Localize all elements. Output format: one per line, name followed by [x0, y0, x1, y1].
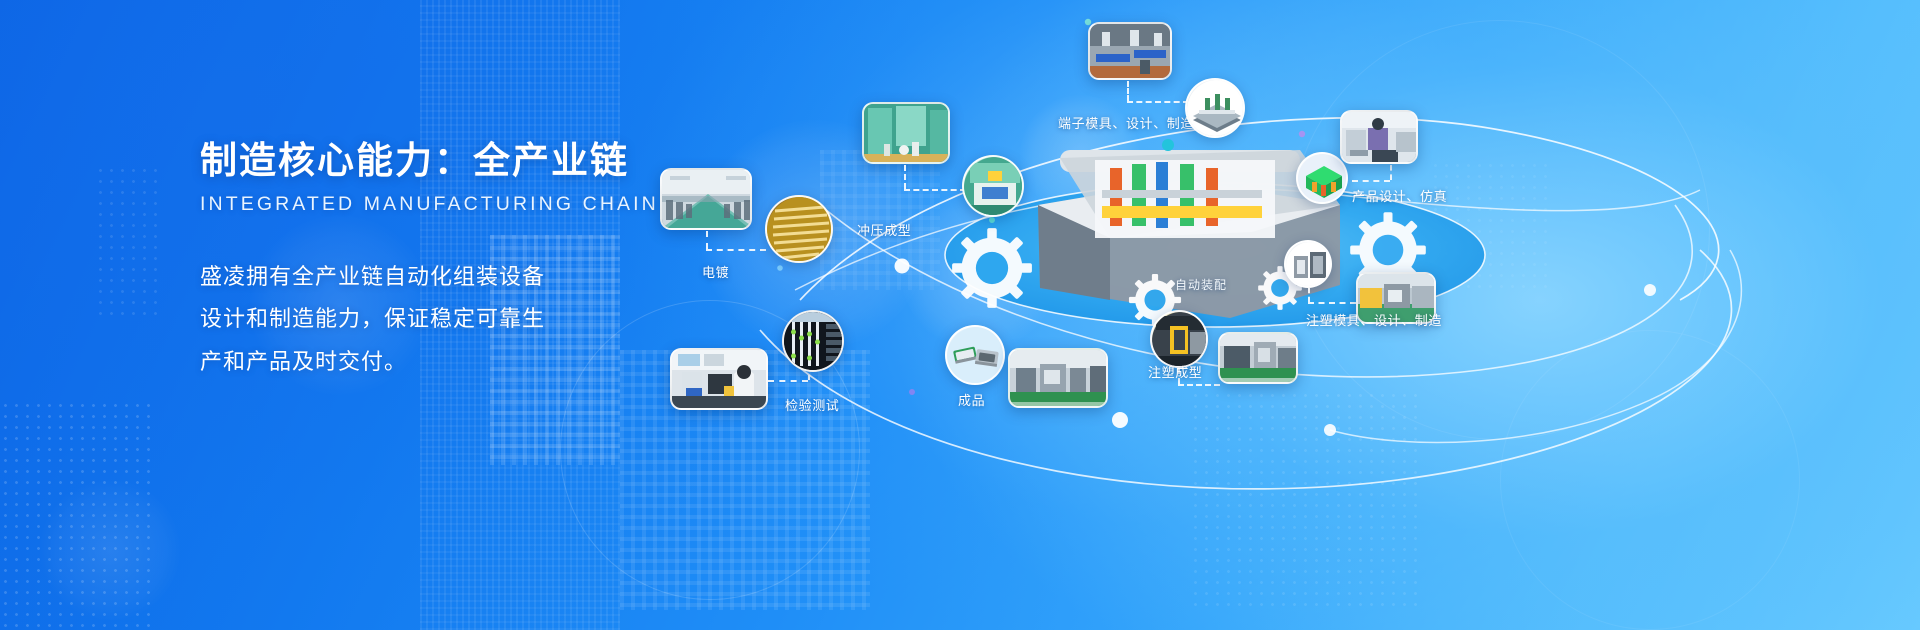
manufacturing-chain-diagram: 自动装配 电镀 [640, 0, 1920, 630]
manufacturing-banner: 制造核心能力：全产业链 INTEGRATED MANUFACTURING CHA… [0, 0, 1920, 630]
node-terminal-mold-photo[interactable] [1088, 22, 1172, 80]
particle-4 [777, 265, 783, 271]
injection-mold-connector-vertical [1308, 288, 1310, 302]
node-terminal-mold-3d-icon[interactable] [1185, 78, 1245, 138]
node-product-design-photo[interactable] [1340, 110, 1418, 164]
bg-dot-grid-left-upper [95, 165, 165, 315]
stamping-connector-vertical [904, 165, 906, 189]
product-design-connector-vertical [1390, 165, 1392, 180]
node-inspection-photo[interactable] [670, 348, 768, 410]
particle-7 [909, 389, 915, 395]
particle-2 [1299, 131, 1305, 137]
orbit-dot-1 [895, 259, 910, 274]
injection-mold-connector-line [1308, 302, 1356, 304]
orbit-dot-4 [1644, 284, 1656, 296]
node-finished-goods-label: 成品 [958, 390, 985, 409]
node-injection-mold-icon[interactable] [1284, 240, 1332, 288]
plating-connector-line [706, 249, 766, 251]
node-reel-icon[interactable] [765, 195, 833, 263]
plating-connector-vertical [706, 231, 708, 249]
node-terminal-mold-label: 端子模具、设计、制造 [1058, 113, 1194, 132]
orbit-lines [640, 0, 1920, 630]
center-assembly-label: 自动装配 [1175, 276, 1227, 293]
node-stamping-label: 冲压成型 [857, 220, 911, 239]
inspection-connector-line [768, 380, 808, 382]
node-stamping-machine-icon[interactable] [962, 155, 1024, 217]
node-inspection-label: 检验测试 [785, 395, 839, 414]
injection-forming-connector-line [1178, 384, 1220, 386]
bg-glow-5 [40, 480, 180, 620]
node-inspection-icon[interactable] [782, 310, 844, 372]
node-plating-photo[interactable] [660, 168, 752, 230]
node-plating-label: 电镀 [702, 262, 729, 281]
node-finished-goods-icon[interactable] [945, 325, 1005, 385]
node-injection-forming-label: 注塑成型 [1148, 362, 1202, 381]
particle-3 [989, 217, 995, 223]
product-design-connector-line [1352, 180, 1390, 182]
node-stamping-photo[interactable] [862, 102, 950, 164]
orbit-dot-3 [1112, 412, 1128, 428]
node-assembly-line-photo[interactable] [1008, 348, 1108, 408]
node-injection-forming-icon[interactable] [1150, 310, 1208, 368]
bg-dot-grid-left [0, 400, 150, 630]
node-injection-mold-label: 注塑模具、设计、制造 [1306, 310, 1442, 329]
stamping-connector-line [904, 189, 966, 191]
terminal-mold-connector-line [1127, 101, 1189, 103]
node-injection-forming-photo[interactable] [1218, 332, 1298, 384]
body-paragraph: 盛凌拥有全产业链自动化组装设备设计和制造能力，保证稳定可靠生产和产品及时交付。 [200, 256, 560, 385]
orbit-dot-5 [1324, 424, 1336, 436]
terminal-mold-connector-vertical [1127, 81, 1129, 101]
node-product-design-icon[interactable] [1296, 152, 1348, 204]
node-product-design-label: 产品设计、仿真 [1352, 186, 1447, 205]
